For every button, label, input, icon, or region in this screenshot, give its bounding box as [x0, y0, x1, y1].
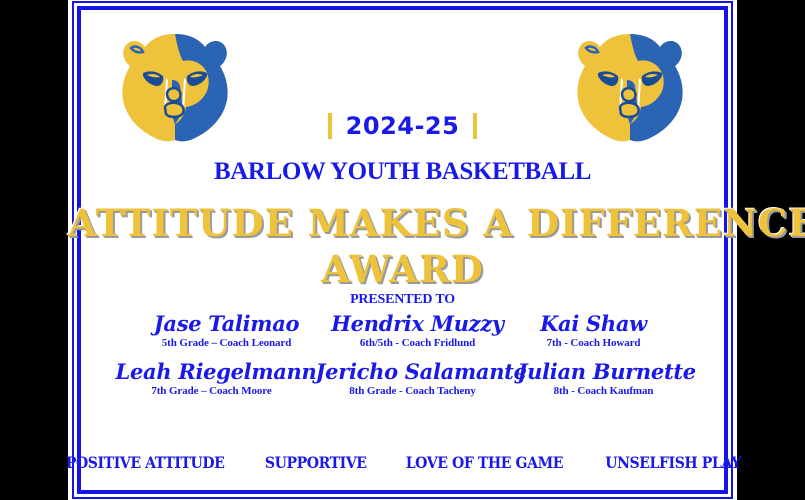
recipient-detail: 8th - Coach Kaufman — [518, 384, 690, 398]
recipient-name: Kai Shaw — [518, 312, 670, 336]
value-item: POSITIVE ATTITUDE — [66, 453, 225, 472]
recipient-name: Hendrix Muzzy — [326, 312, 510, 336]
organization-name: BARLOW YOUTH BASKETBALL — [68, 158, 737, 186]
recipient-name: Jericho Salamante — [316, 360, 510, 384]
presented-to-label: PRESENTED TO — [68, 292, 737, 308]
poster-content: 2024-25 BARLOW YOUTH BASKETBALL ATTITUDE… — [68, 0, 737, 500]
award-poster: 2024-25 BARLOW YOUTH BASKETBALL ATTITUDE… — [0, 0, 805, 500]
recipient-row-1: Jase Talimao 5th Grade – Coach Leonard H… — [100, 312, 705, 350]
recipient-item: Julian Burnette 8th - Coach Kaufman — [514, 360, 694, 398]
gold-pipe-right-icon — [473, 113, 477, 139]
recipient-detail: 8th Grade - Coach Tacheny — [316, 384, 510, 398]
recipient-detail: 6th/5th - Coach Fridlund — [326, 336, 510, 350]
recipient-detail: 7th Grade – Coach Moore — [116, 384, 308, 398]
recipient-item: Kai Shaw 7th - Coach Howard — [514, 312, 674, 350]
recipients-list: Jase Talimao 5th Grade – Coach Leonard H… — [100, 312, 705, 408]
season-label: 2024-25 — [346, 112, 460, 140]
poster-card: 2024-25 BARLOW YOUTH BASKETBALL ATTITUDE… — [68, 0, 737, 500]
award-title-line-1: ATTITUDE MAKES A DIFFERENCE — [68, 201, 805, 245]
recipient-item: Leah Riegelmann 7th Grade – Coach Moore — [112, 360, 312, 398]
recipient-name: Jase Talimao — [136, 312, 318, 336]
recipient-name: Julian Burnette — [518, 360, 690, 384]
season-row: 2024-25 — [68, 112, 737, 140]
recipient-detail: 7th - Coach Howard — [518, 336, 670, 350]
values-banner: POSITIVE ATTITUDE SUPPORTIVE LOVE OF THE… — [68, 453, 737, 472]
recipient-detail: 5th Grade – Coach Leonard — [136, 336, 318, 350]
award-title: ATTITUDE MAKES A DIFFERENCE AWARD — [68, 200, 737, 292]
recipient-row-2: Leah Riegelmann 7th Grade – Coach Moore … — [100, 360, 705, 398]
gold-pipe-left-icon — [328, 113, 332, 139]
recipient-item: Jericho Salamante 8th Grade - Coach Tach… — [312, 360, 514, 398]
award-title-line-2: AWARD — [68, 246, 737, 292]
recipient-item: Jase Talimao 5th Grade – Coach Leonard — [132, 312, 322, 350]
value-item: SUPPORTIVE — [264, 453, 366, 472]
recipient-item: Hendrix Muzzy 6th/5th - Coach Fridlund — [322, 312, 514, 350]
value-item: LOVE OF THE GAME — [406, 453, 563, 472]
recipient-name: Leah Riegelmann — [116, 360, 308, 384]
value-item: UNSELFISH PLAY — [605, 453, 741, 472]
